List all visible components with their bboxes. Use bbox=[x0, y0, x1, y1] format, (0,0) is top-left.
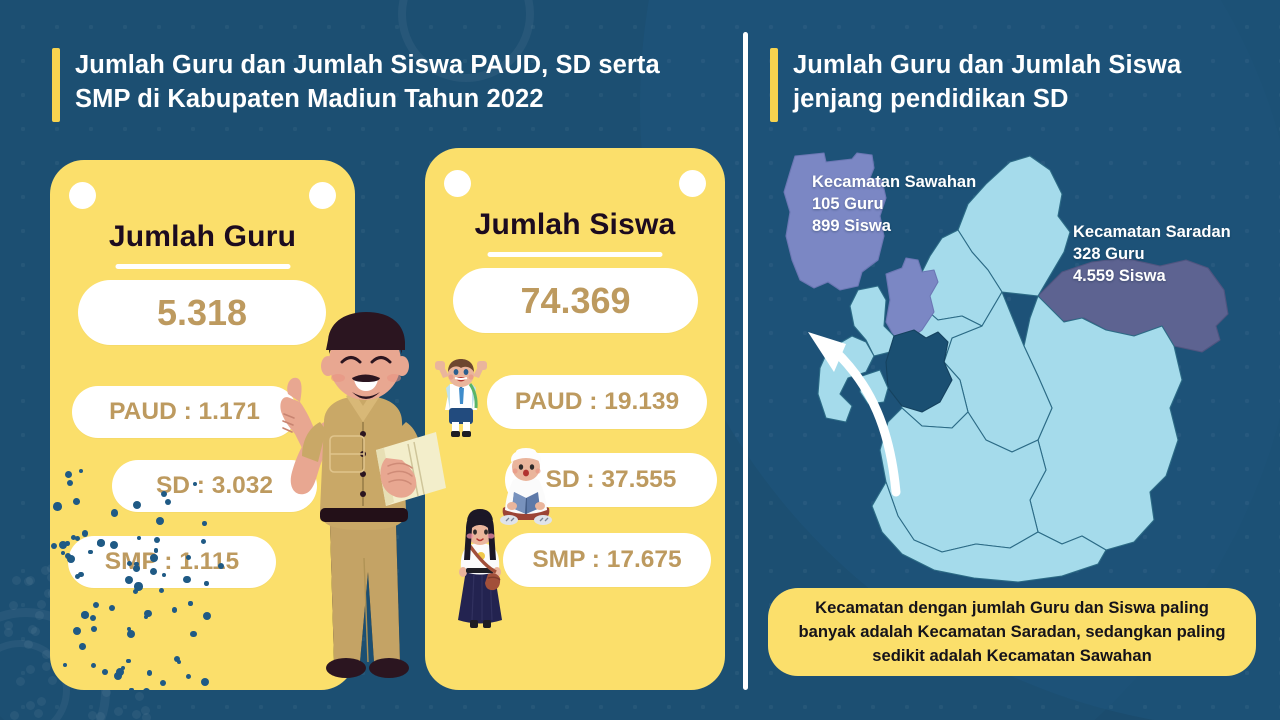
card-hole-left-icon bbox=[69, 182, 96, 209]
vertical-divider bbox=[743, 32, 748, 690]
student-paud-illustration bbox=[430, 358, 492, 444]
page-title-right: Jumlah Guru dan Jumlah Siswa jenjang pen… bbox=[793, 48, 1181, 116]
infographic-canvas: Jumlah Guru dan Jumlah Siswa PAUD, SD se… bbox=[0, 0, 1280, 720]
page-title-left: Jumlah Guru dan Jumlah Siswa PAUD, SD se… bbox=[75, 48, 660, 116]
accent-bar-right bbox=[770, 48, 778, 122]
accent-bar-left bbox=[52, 48, 60, 122]
guru-smp-value: SMP : 1.115 bbox=[68, 536, 276, 588]
left-panel-header: Jumlah Guru dan Jumlah Siswa PAUD, SD se… bbox=[52, 48, 660, 122]
card-hole-right-icon bbox=[309, 182, 336, 209]
card-guru-heading: Jumlah Guru bbox=[50, 220, 355, 254]
guru-paud-value: PAUD : 1.171 bbox=[72, 386, 297, 438]
siswa-total-value: 74.369 bbox=[453, 268, 698, 333]
map-caption-text: Kecamatan dengan jumlah Guru dan Siswa p… bbox=[788, 596, 1236, 668]
map-label-saradan-name: Kecamatan Saradan bbox=[1073, 222, 1231, 244]
student-smp-illustration bbox=[452, 508, 508, 636]
siswa-smp-value: SMP : 17.675 bbox=[503, 533, 711, 587]
map-label-sawahan-name: Kecamatan Sawahan bbox=[812, 172, 976, 194]
card-hole-left-icon-2 bbox=[444, 170, 471, 197]
card-hole-right-icon-2 bbox=[679, 170, 706, 197]
map-label-sawahan-students: 899 Siswa bbox=[812, 216, 976, 238]
map-label-saradan: Kecamatan Saradan 328 Guru 4.559 Siswa bbox=[1073, 222, 1231, 287]
map-label-saradan-teachers: 328 Guru bbox=[1073, 244, 1231, 266]
map-label-sawahan-teachers: 105 Guru bbox=[812, 194, 976, 216]
map-label-sawahan: Kecamatan Sawahan 105 Guru 899 Siswa bbox=[812, 172, 976, 237]
card-guru-underline bbox=[115, 264, 290, 269]
siswa-paud-value: PAUD : 19.139 bbox=[487, 375, 707, 429]
map-label-saradan-students: 4.559 Siswa bbox=[1073, 266, 1231, 288]
card-siswa-heading: Jumlah Siswa bbox=[425, 208, 725, 242]
right-panel-header: Jumlah Guru dan Jumlah Siswa jenjang pen… bbox=[770, 48, 1181, 122]
card-siswa-underline bbox=[488, 252, 663, 257]
map-caption-box: Kecamatan dengan jumlah Guru dan Siswa p… bbox=[768, 588, 1256, 676]
